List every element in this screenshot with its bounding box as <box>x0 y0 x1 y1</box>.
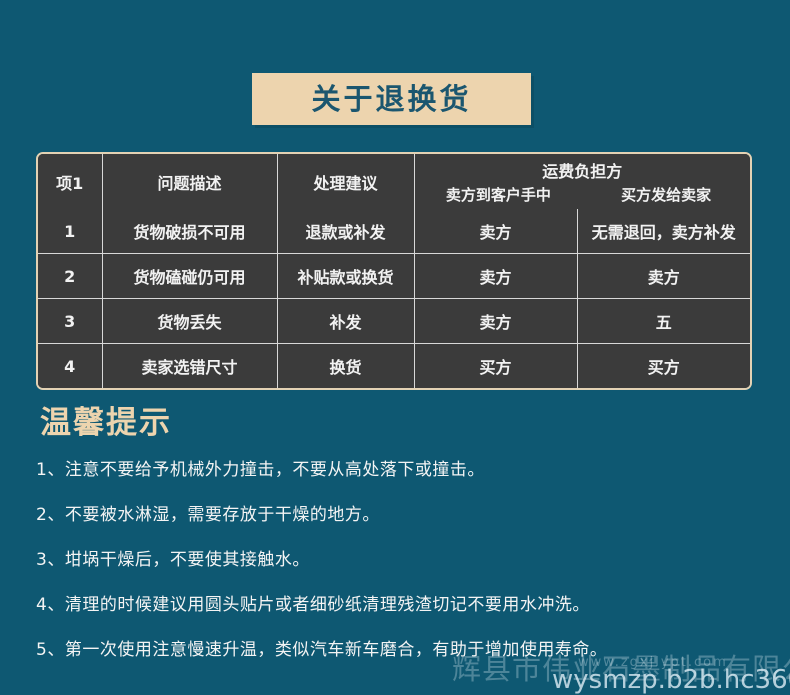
cell-ship-to-seller: 买方 <box>577 344 750 389</box>
table-row: 3 货物丢失 补发 卖方 五 <box>38 299 750 344</box>
header-freight-buyer-to-seller: 买方发给卖家 <box>582 184 750 205</box>
cell-advice: 补发 <box>277 299 414 344</box>
cell-ship-to-customer: 买方 <box>414 344 577 389</box>
table-body: 1 货物破损不可用 退款或补发 卖方 无需退回，卖方补发 2 货物磕碰仍可用 补… <box>38 209 750 388</box>
cell-problem: 卖家选错尺寸 <box>102 344 277 389</box>
cell-ship-to-customer: 卖方 <box>414 299 577 344</box>
header-problem-description: 问题描述 <box>102 154 277 209</box>
tip-item: 4、清理的时候建议用圆头贴片或者细砂纸清理残渣切记不要用水冲洗。 <box>36 597 756 614</box>
cell-advice: 换货 <box>277 344 414 389</box>
returns-policy-table: 项1 问题描述 处理建议 运费负担方 卖方到客户手中 买方发给卖家 1 货物 <box>36 152 752 390</box>
cell-item: 3 <box>38 299 102 344</box>
cell-ship-to-customer: 卖方 <box>414 254 577 299</box>
tip-item: 3、坩埚干燥后，不要使其接触水。 <box>36 552 756 569</box>
cell-advice: 补贴款或换货 <box>277 254 414 299</box>
cell-problem: 货物丢失 <box>102 299 277 344</box>
tip-item: 2、不要被水淋湿，需要存放于干燥的地方。 <box>36 507 756 524</box>
cell-advice: 退款或补发 <box>277 209 414 254</box>
header-freight-title: 运费负担方 <box>542 158 622 182</box>
cell-ship-to-seller: 五 <box>577 299 750 344</box>
cell-ship-to-seller: 无需退回，卖方补发 <box>577 209 750 254</box>
page-title-banner: 关于退换货 <box>252 73 531 125</box>
tip-item: 5、第一次使用注意慢速升温，类似汽车新车磨合，有助于增加使用寿命。 <box>36 642 756 659</box>
cell-problem: 货物磕碰仍可用 <box>102 254 277 299</box>
returns-table: 项1 问题描述 处理建议 运费负担方 卖方到客户手中 买方发给卖家 1 货物 <box>38 154 750 388</box>
header-handling-advice: 处理建议 <box>277 154 414 209</box>
table-header: 项1 问题描述 处理建议 运费负担方 卖方到客户手中 买方发给卖家 <box>38 154 750 209</box>
table-header-row: 项1 问题描述 处理建议 运费负担方 卖方到客户手中 买方发给卖家 <box>38 154 750 209</box>
cell-item: 4 <box>38 344 102 389</box>
table-row: 1 货物破损不可用 退款或补发 卖方 无需退回，卖方补发 <box>38 209 750 254</box>
cell-item: 2 <box>38 254 102 299</box>
cell-ship-to-customer: 卖方 <box>414 209 577 254</box>
table-row: 4 卖家选错尺寸 换货 买方 买方 <box>38 344 750 389</box>
header-freight-responsibility: 运费负担方 卖方到客户手中 买方发给卖家 <box>414 154 750 209</box>
tips-section: 温馨提示 1、注意不要给予机械外力撞击，不要从高处落下或撞击。 2、不要被水淋湿… <box>36 405 756 687</box>
page-title: 关于退换货 <box>311 85 471 114</box>
cell-item: 1 <box>38 209 102 254</box>
header-item: 项1 <box>38 154 102 209</box>
header-freight-seller-to-customer: 卖方到客户手中 <box>415 184 583 205</box>
tip-item: 1、注意不要给予机械外力撞击，不要从高处落下或撞击。 <box>36 462 756 479</box>
cell-problem: 货物破损不可用 <box>102 209 277 254</box>
cell-ship-to-seller: 卖方 <box>577 254 750 299</box>
table-row: 2 货物磕碰仍可用 补贴款或换货 卖方 卖方 <box>38 254 750 299</box>
tips-heading: 温馨提示 <box>40 405 756 442</box>
